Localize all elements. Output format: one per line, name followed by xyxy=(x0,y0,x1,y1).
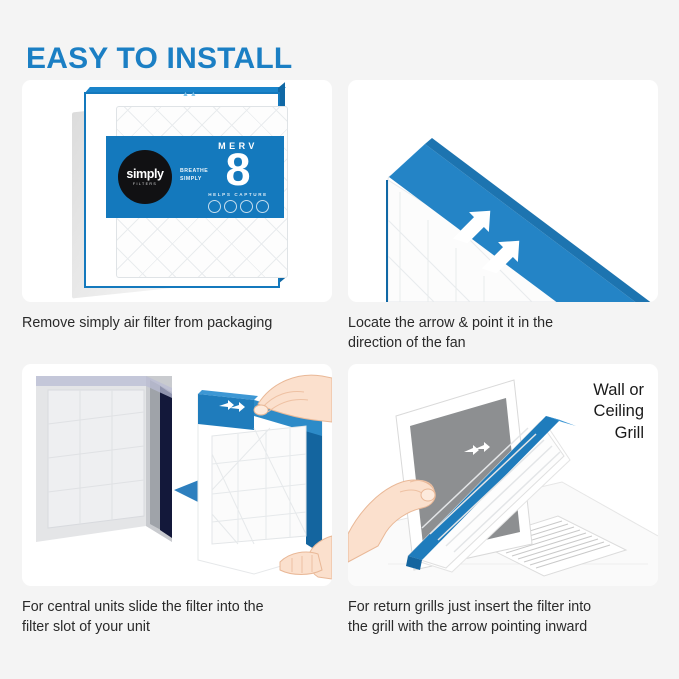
merv-rating-block: MERV 8 HELPS CAPTURE xyxy=(200,141,276,213)
merv-value: 8 xyxy=(200,152,276,189)
step-2-caption-line1: Locate the arrow & point it in the xyxy=(348,313,652,333)
step-3: For central units slide the filter into … xyxy=(22,364,332,638)
steps-grid: ▲▲ simply FILTERS BREATHE SIMPLY MERV 8 xyxy=(22,80,658,637)
filter-in-packaging-illustration: ▲▲ simply FILTERS BREATHE SIMPLY MERV 8 xyxy=(66,92,290,292)
package-label: simply FILTERS BREATHE SIMPLY MERV 8 HEL… xyxy=(106,136,284,218)
step-1-caption: Remove simply air filter from packaging xyxy=(22,313,332,333)
brand-logo-text: simply xyxy=(126,168,163,181)
step-4: Wall or Ceiling Grill For return grills … xyxy=(348,364,658,638)
step-4-caption-line2: the grill with the arrow pointing inward xyxy=(348,617,652,637)
filter-frame-airflow-illustration xyxy=(348,80,658,302)
central-unit-housing xyxy=(36,376,172,542)
grill-note-line2: Ceiling xyxy=(593,401,644,423)
slide-filter-into-unit-illustration xyxy=(22,364,332,586)
page-title: EASY TO INSTALL xyxy=(26,44,292,74)
step-2-caption: Locate the arrow & point it in the direc… xyxy=(348,313,658,354)
step-2-caption-line2: direction of the fan xyxy=(348,333,652,353)
pollen-icon xyxy=(208,200,221,213)
step-3-caption-line2: filter slot of your unit xyxy=(22,617,326,637)
mold-spore-icon xyxy=(256,200,269,213)
grill-note-line3: Grill xyxy=(593,423,644,445)
step-1-card: ▲▲ simply FILTERS BREATHE SIMPLY MERV 8 xyxy=(22,80,332,302)
brand-logo: simply FILTERS xyxy=(118,150,172,204)
step-3-caption: For central units slide the filter into … xyxy=(22,597,332,638)
helps-capture-label: HELPS CAPTURE xyxy=(200,192,276,197)
brand-logo-subtext: FILTERS xyxy=(133,182,157,186)
grill-note-line1: Wall or xyxy=(593,380,644,402)
pet-dander-icon xyxy=(240,200,253,213)
step-2-card xyxy=(348,80,658,302)
step-4-caption: For return grills just insert the filter… xyxy=(348,597,658,638)
step-3-card xyxy=(22,364,332,586)
package-airflow-arrow-icon: ▲▲ xyxy=(182,91,198,98)
grill-location-note: Wall or Ceiling Grill xyxy=(593,380,644,445)
step-4-card: Wall or Ceiling Grill xyxy=(348,364,658,586)
step-3-caption-line1: For central units slide the filter into … xyxy=(22,597,326,617)
package-front: ▲▲ simply FILTERS BREATHE SIMPLY MERV 8 xyxy=(84,92,280,288)
dust-icon xyxy=(224,200,237,213)
filter-top-frame xyxy=(198,394,254,430)
step-2: Locate the arrow & point it in the direc… xyxy=(348,80,658,354)
step-4-caption-line1: For return grills just insert the filter… xyxy=(348,597,652,617)
step-1: ▲▲ simply FILTERS BREATHE SIMPLY MERV 8 xyxy=(22,80,332,354)
helps-capture-icons xyxy=(200,200,276,213)
